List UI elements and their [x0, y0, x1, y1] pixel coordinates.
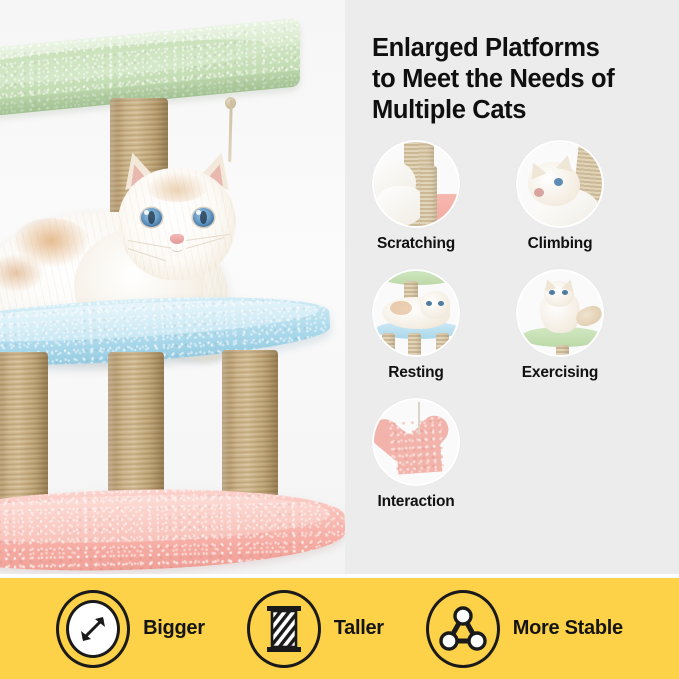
striped-column-icon: [259, 602, 309, 656]
cat-mouth: [171, 245, 183, 252]
feature-scratching[interactable]: Scratching: [368, 140, 464, 253]
scratching-post-thumb-icon: [372, 140, 460, 228]
cat-pupil-right: [200, 211, 207, 224]
exercising-cat-thumb-icon: [516, 269, 604, 357]
feature-grid: Scratching Climbing: [368, 140, 668, 527]
cat-forehead-marking: [146, 172, 208, 202]
badge-ring: [56, 590, 130, 668]
infographic-page: Enlarged Platforms to Meet the Needs of …: [0, 0, 679, 679]
page-title-line-1: Enlarged Platforms: [372, 33, 662, 64]
cat-eye-glint-right: [196, 210, 201, 215]
heart-pompom-toy-thumb-icon: [372, 398, 460, 486]
product-photo: [0, 0, 345, 575]
cat-pupil-left: [148, 211, 155, 224]
heart-pompom: [396, 432, 443, 475]
feature-exercising[interactable]: Exercising: [512, 269, 608, 382]
feature-row: Scratching Climbing: [368, 140, 668, 253]
badge-label: Taller: [334, 617, 384, 640]
cat-eye-glint-left: [144, 210, 149, 215]
badge-label: More Stable: [513, 617, 623, 640]
feature-label: Interaction: [368, 493, 464, 511]
page-title: Enlarged Platforms to Meet the Needs of …: [372, 33, 662, 126]
badge-label: Bigger: [143, 617, 205, 640]
feature-row: Interaction: [368, 398, 668, 511]
bottom-benefits-banner: Bigger Taller: [0, 574, 679, 679]
page-title-line-2: to Meet the Needs of: [372, 64, 662, 95]
badge-taller[interactable]: Taller: [247, 590, 384, 668]
feature-row: Resting Exercising: [368, 269, 668, 382]
badge-more-stable[interactable]: More Stable: [426, 590, 623, 668]
feature-label: Climbing: [512, 235, 608, 253]
badge-ring: [426, 590, 500, 668]
toy-string: [418, 402, 420, 434]
diagonal-resize-arrow-icon: [66, 600, 120, 658]
page-title-line-3: Multiple Cats: [372, 95, 662, 126]
cat-nose: [170, 234, 184, 244]
feature-label: Scratching: [368, 235, 464, 253]
triangle-nodes-icon: [437, 603, 489, 655]
feature-label: Resting: [368, 364, 464, 382]
feature-interaction[interactable]: Interaction: [368, 398, 464, 511]
badge-ring: [247, 590, 321, 668]
feature-resting[interactable]: Resting: [368, 269, 464, 382]
platform-base-top: [0, 491, 331, 548]
resting-cat-thumb-icon: [372, 269, 460, 357]
badge-bigger[interactable]: Bigger: [56, 590, 205, 668]
feature-label: Exercising: [512, 364, 608, 382]
feature-climbing[interactable]: Climbing: [512, 140, 608, 253]
climbing-cat-thumb-icon: [516, 140, 604, 228]
